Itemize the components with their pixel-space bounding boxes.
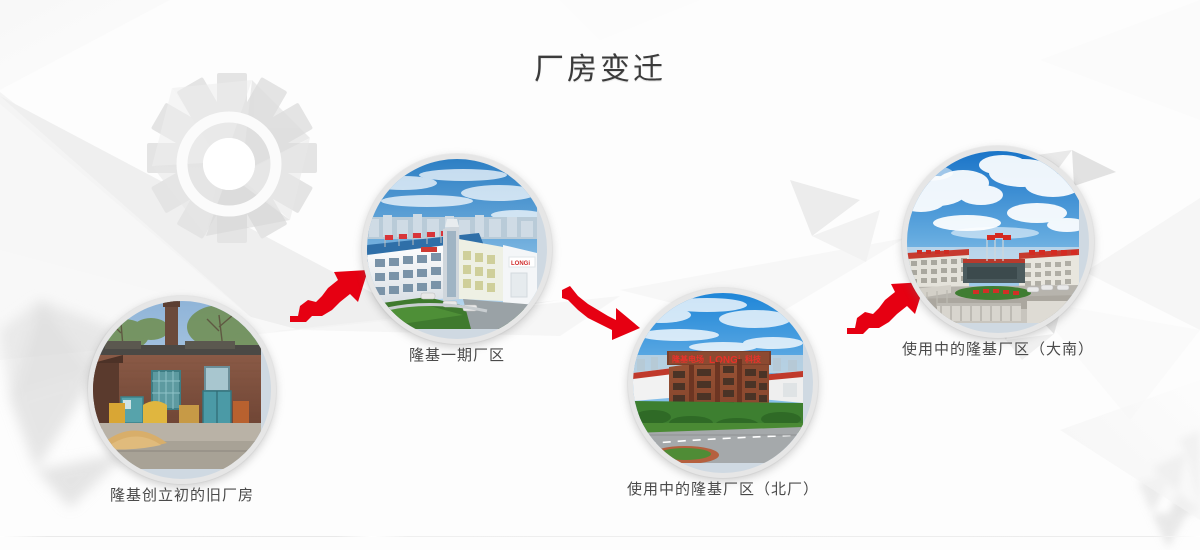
photo2-longi-sign: LONGi (511, 261, 530, 267)
node-caption-3: 使用中的隆基厂区（北厂） (627, 478, 819, 499)
timeline-stage: 厂房变迁 (0, 0, 1200, 550)
photo3-sign-en: LONGi (709, 355, 741, 366)
photo-ring-2[interactable]: LONGi (362, 154, 552, 344)
node-caption-4: 使用中的隆基厂区（大南） (902, 338, 1094, 359)
photo-north-plant: 隆基电场 LONGi 科技 (633, 293, 813, 473)
page-title: 厂房变迁 (0, 44, 1200, 88)
photo3-sign-cn2: 科技 (745, 354, 762, 364)
photo-ring-3[interactable]: 隆基电场 LONGi 科技 (628, 288, 818, 478)
photo-ring-4[interactable] (902, 146, 1094, 338)
timeline-node-4[interactable]: 使用中的隆基厂区（大南） (902, 146, 1094, 338)
node-caption-1: 隆基创立初的旧厂房 (110, 484, 254, 505)
bottom-divider (0, 536, 1200, 537)
arrow-up-right-1 (288, 266, 372, 322)
timeline-node-3[interactable]: 隆基电场 LONGi 科技 (628, 288, 818, 478)
photo3-sign-cn: 隆基电场 (672, 354, 704, 364)
timeline-node-2[interactable]: LONGi (362, 154, 552, 344)
photo-old-factory (93, 301, 271, 479)
photo-ring-1[interactable] (88, 296, 276, 484)
photo-south-plant (907, 151, 1089, 333)
node-caption-2: 隆基一期厂区 (409, 344, 505, 365)
timeline-node-1[interactable]: 隆基创立初的旧厂房 (88, 296, 276, 484)
photo-phase-one-campus: LONGi (367, 159, 547, 339)
